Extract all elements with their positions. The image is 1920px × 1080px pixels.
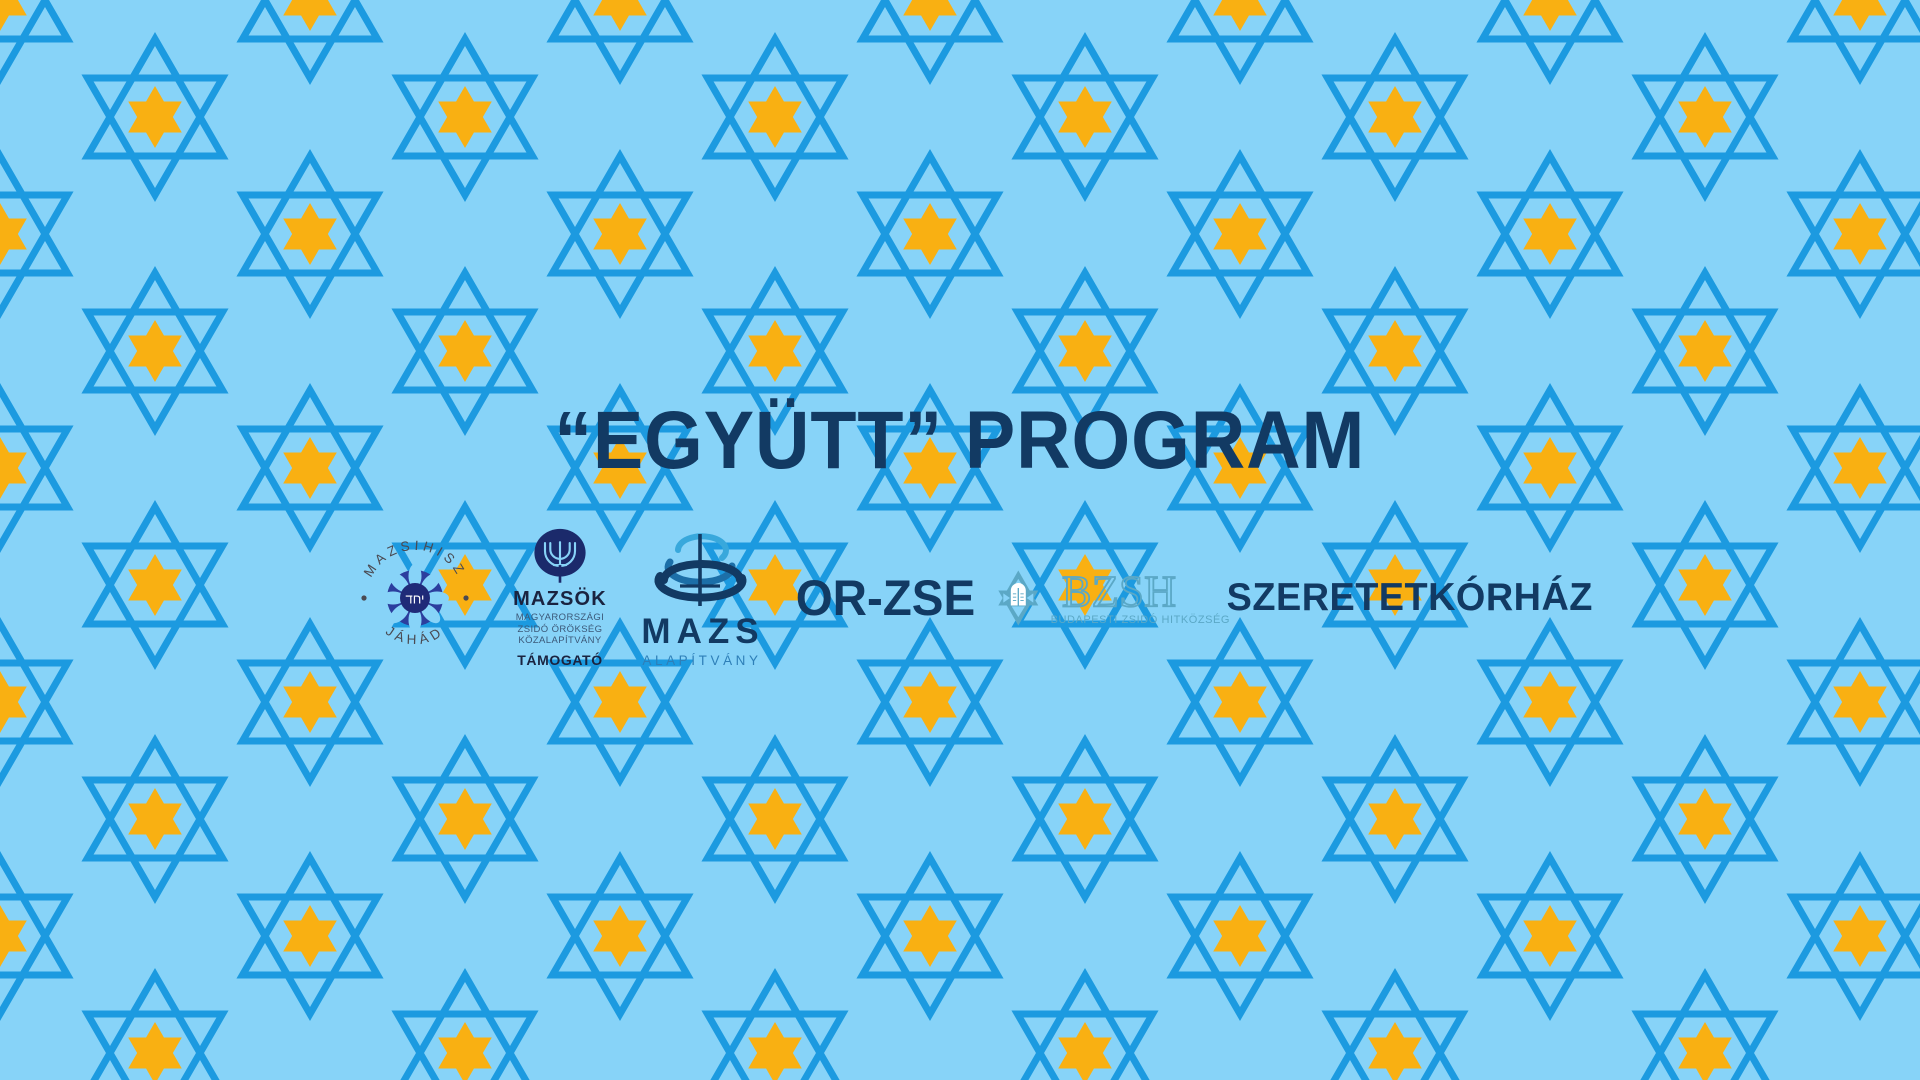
page-title: “EGYÜTT” PROGRAM <box>554 400 1365 482</box>
mazs-subline: ALAPÍTVÁNY <box>638 653 761 668</box>
bzsh-subline: BUDAPESTI ZSIDÓ HITKÖZSÉG <box>1051 614 1230 626</box>
logo-mazs-alapitvany[interactable]: MAZS ALAPÍTVÁNY <box>620 528 780 668</box>
star-of-david-tablets-icon <box>990 561 1047 635</box>
mazsok-role-label: TÁMOGATÓ <box>517 652 602 668</box>
banner-root: “EGYÜTT” PROGRAM MAZSIHISZ JÁHÁD <box>0 0 1920 1080</box>
jahad-hebrew-text: יחד <box>406 592 425 607</box>
szeretetkorhaz-wordmark: SZERETETKÓRHÁZ <box>1227 576 1593 620</box>
tablets-icon <box>1011 583 1026 605</box>
ring-dot-right <box>463 595 468 600</box>
logo-szeretetkorhaz[interactable]: SZERETETKÓRHÁZ <box>1230 528 1590 668</box>
mazs-wordmark: MAZS <box>635 614 764 649</box>
bzsh-wordmark: BZSH <box>1062 570 1176 616</box>
mazsok-subline-2: ZSIDÓ ÖRÖKSÉG <box>504 624 616 636</box>
or-zse-wordmark: OR-ZSE <box>795 569 974 627</box>
petal-emblem: יחד <box>381 564 449 632</box>
ring-dot-left <box>361 595 366 600</box>
mazsok-wordmark: MAZSÖK <box>513 589 607 609</box>
center-content: “EGYÜTT” PROGRAM MAZSIHISZ JÁHÁD <box>0 400 1920 668</box>
globe-icon <box>644 528 756 612</box>
mazsok-subline-3: KÖZALAPÍTVÁNY <box>504 635 616 647</box>
mazsok-subline-1: MAGYARORSZÁGI <box>504 612 616 624</box>
menorah-icon <box>529 528 591 586</box>
logo-bzsh[interactable]: BZSH BUDAPESTI ZSIDÓ HITKÖZSÉG <box>990 528 1230 668</box>
logo-or-zse[interactable]: OR-ZSE <box>780 528 990 668</box>
logo-mazsok[interactable]: MAZSÖK MAGYARORSZÁGI ZSIDÓ ÖRÖKSÉG KÖZAL… <box>500 528 620 668</box>
logo-mazsihisz-jahad[interactable]: MAZSIHISZ JÁHÁD <box>330 528 500 668</box>
partner-logo-row: MAZSIHISZ JÁHÁD <box>330 528 1590 668</box>
